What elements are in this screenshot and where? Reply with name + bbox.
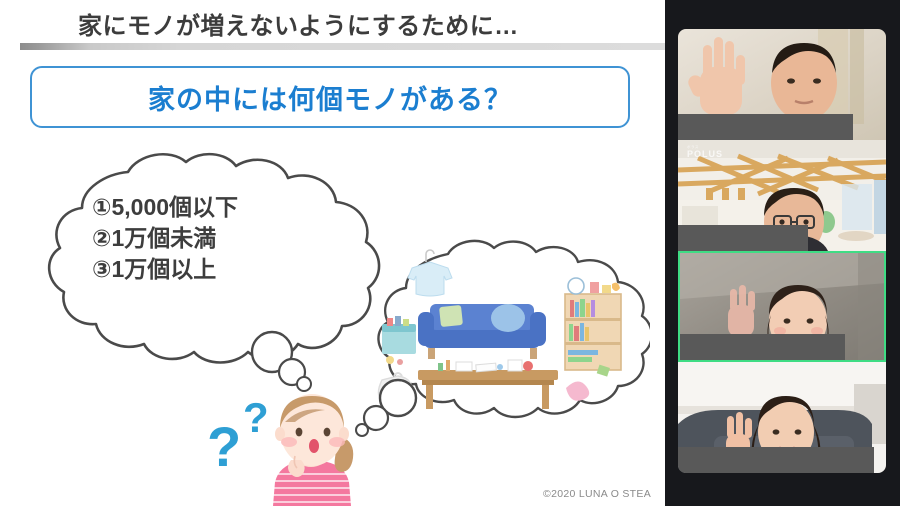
participant-name-redaction-bar [678,447,874,473]
option-item: ①5,000個以下 [92,192,372,223]
video-call-panel: ポラス POLUS [665,0,900,506]
presentation-slide: 家にモノが増えないようにするために… 家の中には何個モノがある？ ①5,000個… [0,0,665,506]
video-tile-participant-2[interactable]: ポラス POLUS [678,140,886,251]
video-tile-participant-3[interactable] [678,251,886,362]
answer-options-list: ①5,000個以下 ②1万個未満 ③1万個以上 [92,192,372,285]
polus-watermark-label: POLUS [687,149,723,159]
thinking-woman-illustration [255,386,370,506]
svg-text:?: ? [207,415,241,478]
video-tile-participant-1[interactable] [678,29,886,140]
option-item: ③1万個以上 [92,254,372,285]
question-callout-box: 家の中には何個モノがある？ [30,66,630,128]
polus-watermark: ポラス POLUS [687,146,723,159]
slide-with-video-call: 家にモノが増えないようにするために… 家の中には何個モノがある？ ①5,000個… [0,0,900,506]
participant-name-redaction-bar [678,114,853,140]
participant-name-redaction-bar [678,225,808,251]
title-underline-bar [20,43,665,50]
option-item: ②1万個未満 [92,223,372,254]
video-tile-participant-4[interactable] [678,362,886,473]
slide-title: 家にモノが増えないようにするために… [78,6,519,41]
participant-name-redaction-bar [680,334,845,360]
answer-options-thought-bubble: ①5,000個以下 ②1万個未満 ③1万個以上 [10,150,400,380]
copyright-text: ©2020 LUNA O STEA [543,488,651,500]
question-text: 家の中には何個モノがある？ [148,78,512,117]
